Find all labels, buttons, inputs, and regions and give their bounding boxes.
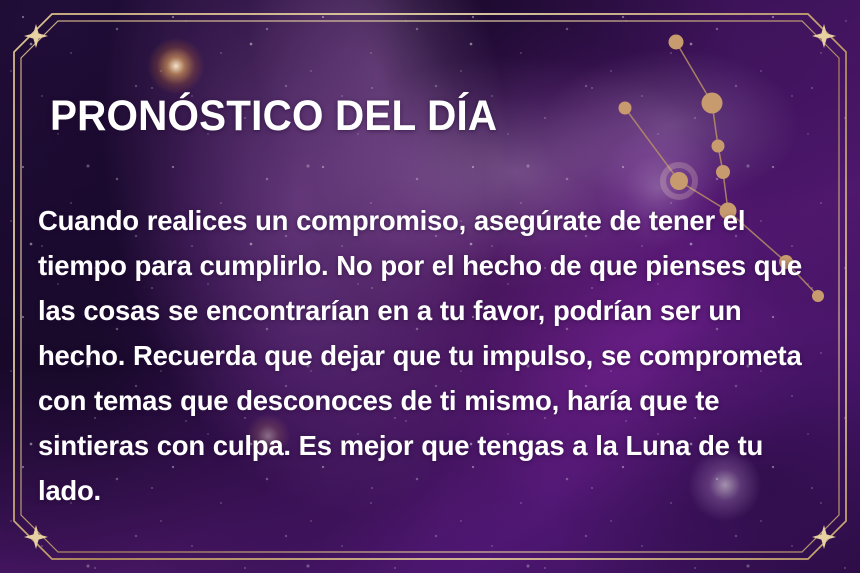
page-title: PRONÓSTICO DEL DÍA bbox=[50, 92, 497, 141]
horoscope-body-text: Cuando realices un compromiso, asegúrate… bbox=[38, 198, 830, 513]
horoscope-card: PRONÓSTICO DEL DÍA Cuando realices un co… bbox=[0, 0, 860, 573]
card-content: PRONÓSTICO DEL DÍA Cuando realices un co… bbox=[0, 0, 860, 573]
